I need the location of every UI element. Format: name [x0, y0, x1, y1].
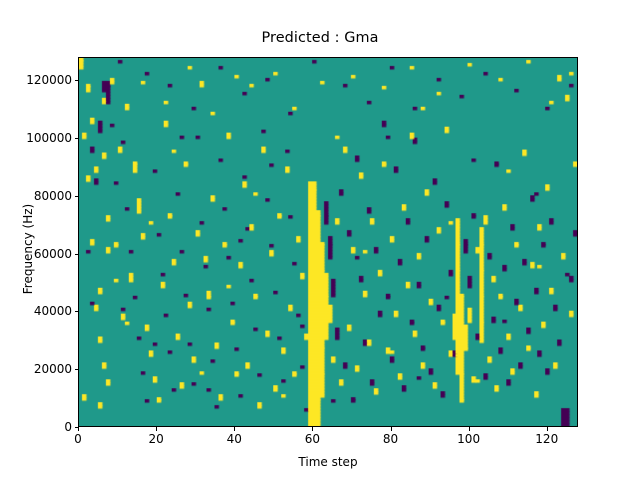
x-tick-mark [391, 427, 392, 431]
y-tick-label: 20000 [0, 362, 72, 376]
x-tick-mark [234, 427, 235, 431]
figure-canvas: Predicted : Gma 020000400006000080000100… [0, 0, 640, 480]
x-tick-label: 100 [439, 432, 499, 446]
x-tick-label: 120 [517, 432, 577, 446]
x-tick-mark [469, 427, 470, 431]
x-tick-mark [547, 427, 548, 431]
y-tick-label: 80000 [0, 189, 72, 203]
x-tick-label: 0 [48, 432, 108, 446]
y-tick-label: 40000 [0, 304, 72, 318]
y-tick-mark [75, 138, 79, 139]
y-tick-mark [75, 254, 79, 255]
y-axis-label: Frequency (Hz) [21, 129, 35, 369]
y-tick-label: 100000 [0, 131, 72, 145]
x-tick-mark [312, 427, 313, 431]
heatmap-image [79, 58, 577, 426]
y-tick-mark [75, 196, 79, 197]
x-tick-mark [156, 427, 157, 431]
y-tick-mark [75, 80, 79, 81]
y-tick-label: 120000 [0, 73, 72, 87]
chart-title: Predicted : Gma [0, 30, 640, 46]
y-tick-mark [75, 311, 79, 312]
x-tick-label: 80 [361, 432, 421, 446]
heatmap-axes [78, 57, 578, 427]
x-tick-label: 20 [126, 432, 186, 446]
x-tick-mark [78, 427, 79, 431]
y-tick-label: 60000 [0, 247, 72, 261]
x-tick-label: 40 [204, 432, 264, 446]
x-tick-label: 60 [282, 432, 342, 446]
x-axis-label: Time step [78, 455, 578, 469]
y-tick-mark [75, 369, 79, 370]
